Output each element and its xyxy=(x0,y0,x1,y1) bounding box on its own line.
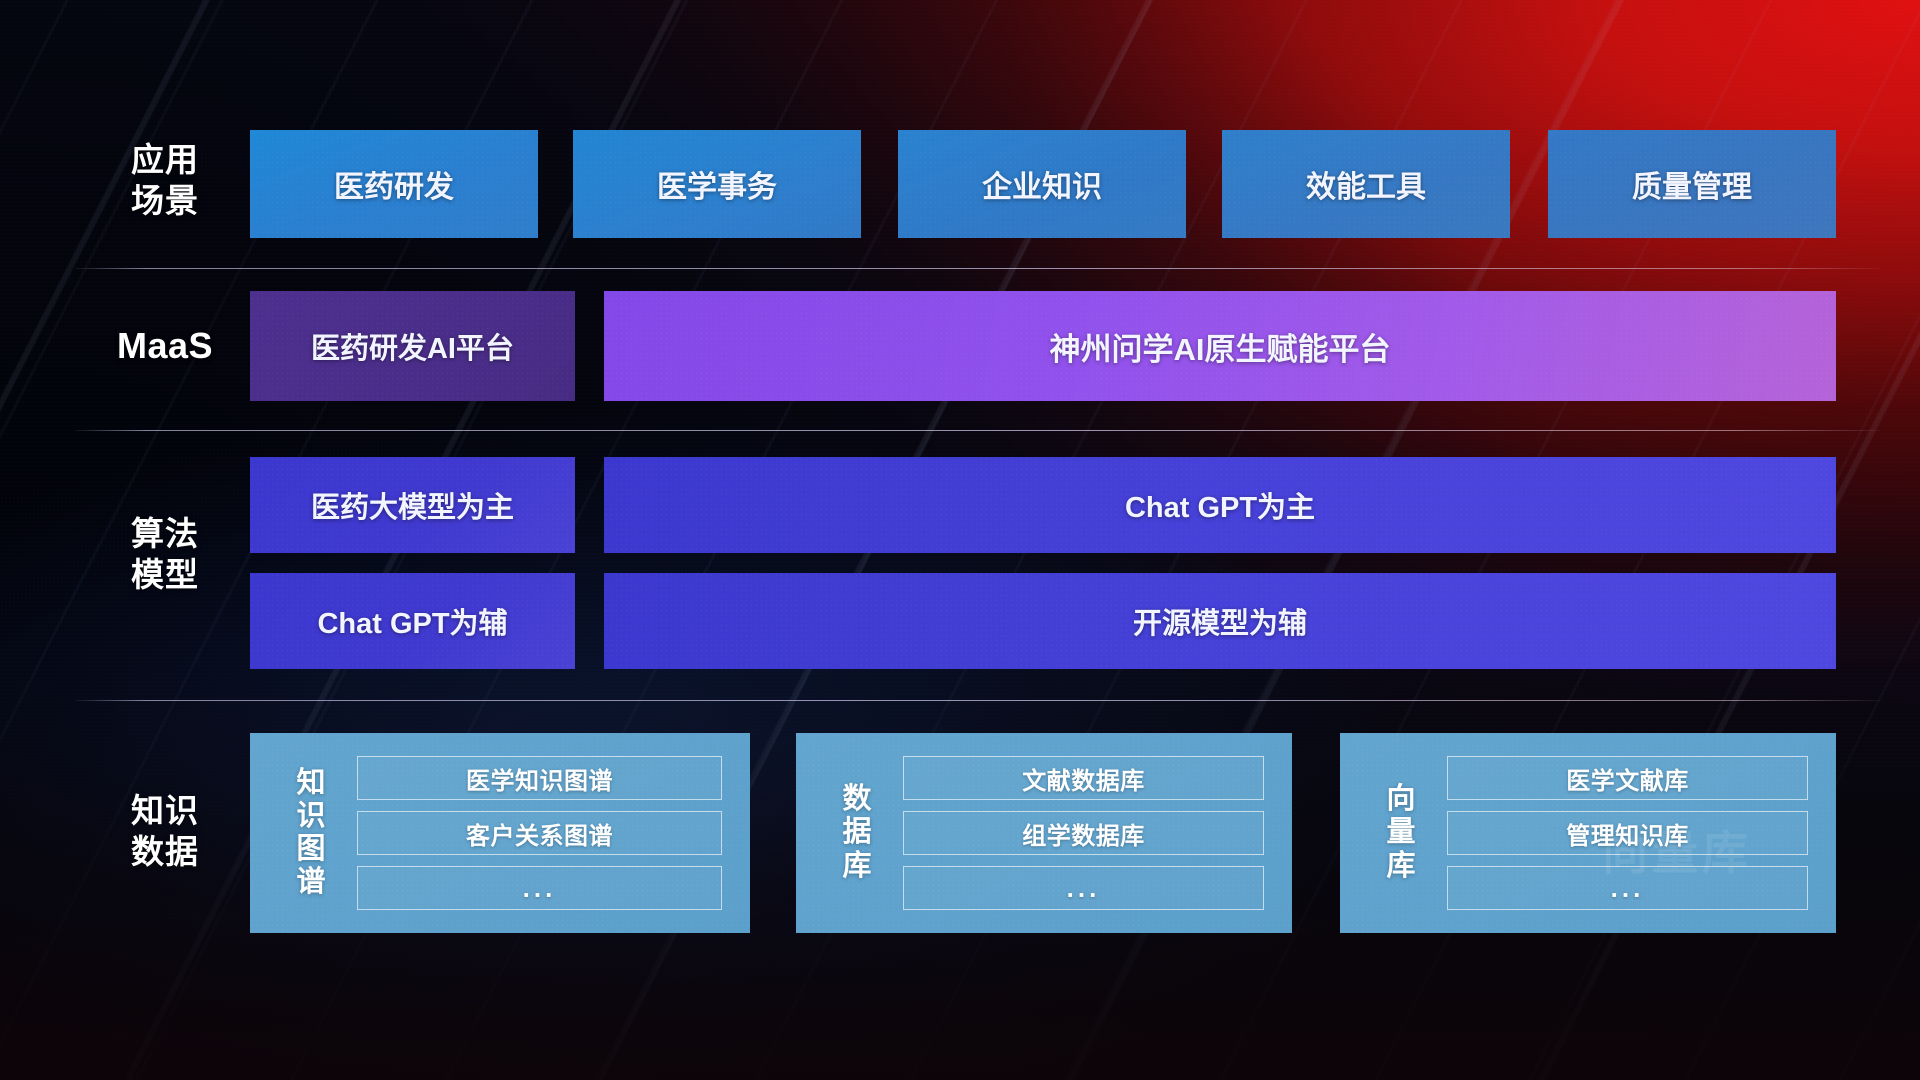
app-box-enterprise-knowledge[interactable]: 企业知识 xyxy=(898,130,1186,238)
knowledge-card-title-char: 图 xyxy=(287,833,335,866)
algo-box-label: 开源模型为辅 xyxy=(1133,600,1307,642)
knowledge-item-more[interactable]: ... xyxy=(1447,866,1808,910)
knowledge-item-more[interactable]: ... xyxy=(903,866,1264,910)
app-box-drug-rd[interactable]: 医药研发 xyxy=(250,130,538,238)
row-label-knowledge-line1: 知识 xyxy=(90,791,240,832)
knowledge-item-more[interactable]: ... xyxy=(357,866,722,910)
knowledge-card-title-char: 谱 xyxy=(287,866,335,899)
algo-box-label: Chat GPT为主 xyxy=(1125,484,1315,526)
divider-after-application xyxy=(75,268,1880,269)
knowledge-card-title: 知识图谱 xyxy=(287,767,335,899)
maas-box-label: 医药研发AI平台 xyxy=(311,325,514,367)
knowledge-item[interactable]: 医学知识图谱 xyxy=(357,756,722,800)
maas-box-shenzhou-wenxue-platform[interactable]: 神州问学AI原生赋能平台 xyxy=(604,291,1836,401)
knowledge-card-database[interactable]: 数据库 文献数据库 组学数据库 ... xyxy=(796,733,1292,933)
app-box-label: 医药研发 xyxy=(334,162,454,206)
maas-box-label: 神州问学AI原生赋能平台 xyxy=(1050,324,1391,369)
knowledge-card-title: 数据库 xyxy=(833,783,881,882)
knowledge-card-title-char: 知 xyxy=(287,767,335,800)
app-box-label: 效能工具 xyxy=(1306,162,1426,206)
diagram-content: 应用 场景 医药研发 医学事务 企业知识 效能工具 质量管理 xyxy=(0,0,1920,1080)
row-algorithm: 算法 模型 医药大模型为主 Chat GPT为辅 Chat GPT为主 开源模型… xyxy=(0,457,1920,677)
row-maas: MaaS 医药研发AI平台 神州问学AI原生赋能平台 xyxy=(0,291,1920,401)
knowledge-card-title: 向量库 xyxy=(1377,783,1425,882)
knowledge-card-vector-store[interactable]: 向量库 向量库 医学文献库 管理知识库 ... xyxy=(1340,733,1836,933)
knowledge-card-title-char: 量 xyxy=(1377,816,1425,849)
knowledge-card-item-list: 医学知识图谱 客户关系图谱 ... xyxy=(357,756,722,910)
divider-after-maas xyxy=(75,430,1880,431)
algo-box-pharma-llm-primary[interactable]: 医药大模型为主 xyxy=(250,457,575,553)
maas-box-drug-rd-ai-platform[interactable]: 医药研发AI平台 xyxy=(250,291,575,401)
algo-box-chatgpt-primary[interactable]: Chat GPT为主 xyxy=(604,457,1836,553)
knowledge-item[interactable]: 医学文献库 xyxy=(1447,756,1808,800)
knowledge-card-item-list: 医学文献库 管理知识库 ... xyxy=(1447,756,1808,910)
algo-box-label: Chat GPT为辅 xyxy=(317,600,507,642)
row-label-application: 应用 场景 xyxy=(90,140,240,222)
knowledge-card-knowledge-graph[interactable]: 知识图谱 医学知识图谱 客户关系图谱 ... xyxy=(250,733,750,933)
row-application: 应用 场景 医药研发 医学事务 企业知识 效能工具 质量管理 xyxy=(0,130,1920,238)
row-label-maas: MaaS xyxy=(90,324,240,369)
row-label-algorithm-line1: 算法 xyxy=(90,514,240,555)
row-label-application-line1: 应用 xyxy=(90,140,240,181)
row-label-application-line2: 场景 xyxy=(90,181,240,222)
divider-after-algorithm xyxy=(75,700,1880,701)
algo-box-label: 医药大模型为主 xyxy=(311,484,514,526)
slide-canvas: 应用 场景 医药研发 医学事务 企业知识 效能工具 质量管理 xyxy=(0,0,1920,1080)
knowledge-card-title-char: 向 xyxy=(1377,783,1425,816)
row-label-algorithm-line2: 模型 xyxy=(90,555,240,596)
row-label-knowledge-line2: 数据 xyxy=(90,832,240,873)
knowledge-item[interactable]: 组学数据库 xyxy=(903,811,1264,855)
knowledge-card-title-char: 库 xyxy=(833,850,881,883)
app-box-label: 企业知识 xyxy=(982,162,1102,206)
row-knowledge: 知识 数据 知识图谱 医学知识图谱 客户关系图谱 ... 数据库 文献数据库 xyxy=(0,733,1920,933)
app-box-label: 质量管理 xyxy=(1632,162,1752,206)
knowledge-item[interactable]: 文献数据库 xyxy=(903,756,1264,800)
knowledge-card-title-char: 库 xyxy=(1377,850,1425,883)
knowledge-item[interactable]: 管理知识库 xyxy=(1447,811,1808,855)
knowledge-card-title-char: 识 xyxy=(287,800,335,833)
app-box-quality-management[interactable]: 质量管理 xyxy=(1548,130,1836,238)
algo-box-opensource-secondary[interactable]: 开源模型为辅 xyxy=(604,573,1836,669)
row-label-algorithm: 算法 模型 xyxy=(90,514,240,596)
algo-box-chatgpt-secondary[interactable]: Chat GPT为辅 xyxy=(250,573,575,669)
knowledge-item[interactable]: 客户关系图谱 xyxy=(357,811,722,855)
knowledge-card-title-char: 据 xyxy=(833,816,881,849)
app-box-label: 医学事务 xyxy=(657,162,777,206)
knowledge-card-title-char: 数 xyxy=(833,783,881,816)
knowledge-card-item-list: 文献数据库 组学数据库 ... xyxy=(903,756,1264,910)
app-box-medical-affairs[interactable]: 医学事务 xyxy=(573,130,861,238)
app-box-efficiency-tools[interactable]: 效能工具 xyxy=(1222,130,1510,238)
row-label-knowledge: 知识 数据 xyxy=(90,791,240,873)
